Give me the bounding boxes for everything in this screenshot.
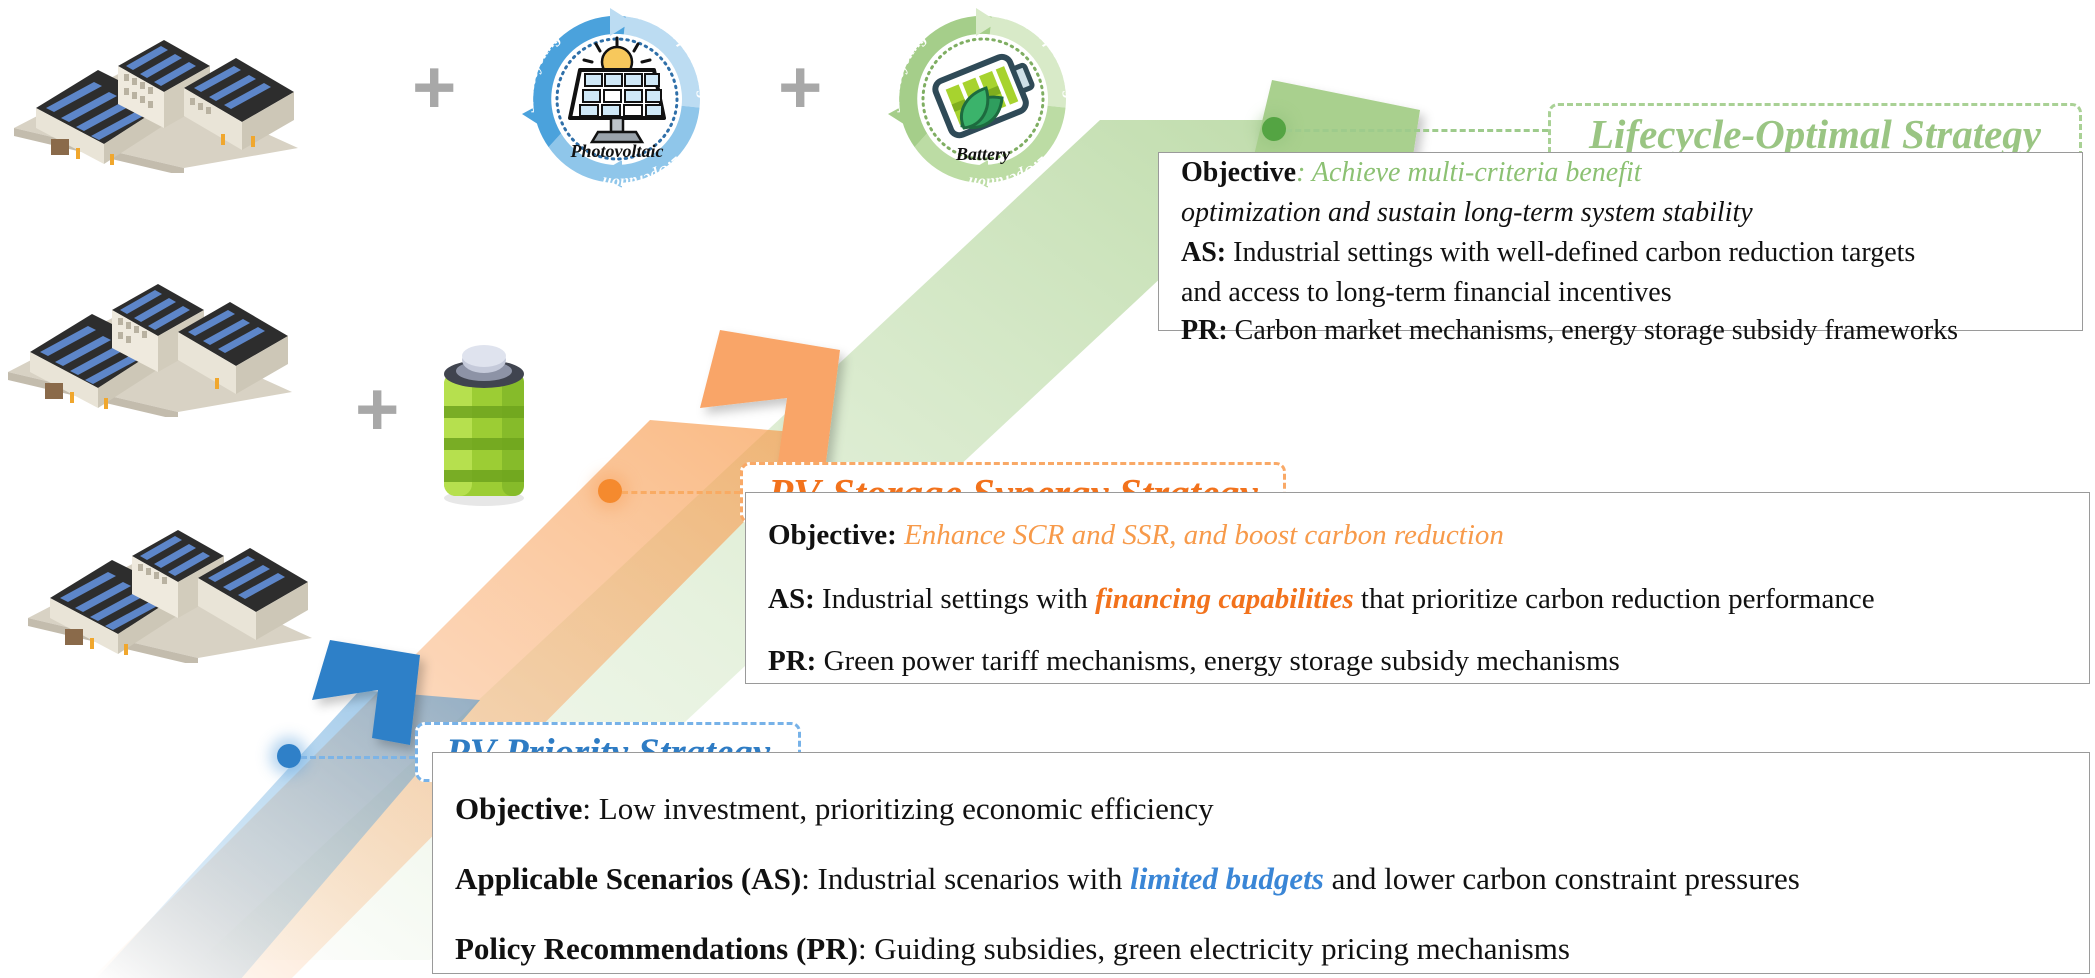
panel-line-applicable-scenarios: Applicable Scenarios (AS): Industrial sc… bbox=[455, 861, 1800, 897]
connector-line-pv-storage bbox=[622, 491, 740, 494]
panel-line-objective-label: Objective bbox=[455, 791, 582, 826]
connector-dot-pv-storage bbox=[598, 479, 622, 503]
connector-line-lifecycle bbox=[1286, 129, 1548, 132]
connector-dot-lifecycle bbox=[1262, 117, 1286, 141]
panel-line-objective: Objective: Enhance SCR and SSR, and boos… bbox=[768, 519, 1504, 552]
panel-line-as-emphasis: financing capabilities bbox=[1095, 583, 1354, 615]
panel-line-applicable-scenarios: AS: Industrial settings with well-define… bbox=[1181, 237, 1915, 269]
panel-line-pr-value: Carbon market mechanisms, energy storage… bbox=[1228, 315, 1958, 346]
panel-line-as-emphasis: limited budgets bbox=[1130, 861, 1324, 896]
panel-line-as-label: AS: bbox=[1181, 237, 1226, 268]
connector-line-pv-priority bbox=[301, 756, 415, 759]
green-battery-icon bbox=[424, 330, 544, 510]
factory-illustration-top bbox=[6, 8, 306, 173]
strategy-panel-lifecycle-optimal: Objective: Achieve multi-criteria benefi… bbox=[1158, 152, 2083, 331]
plus-icon-middle: + bbox=[355, 372, 399, 448]
panel-line-objective-label: Objective: bbox=[768, 519, 897, 551]
panel-line-pr-value: Green power tariff mechanisms, energy st… bbox=[816, 645, 1619, 677]
strategy-panel-pv-storage-synergy: Objective: Enhance SCR and SSR, and boos… bbox=[745, 492, 2090, 684]
panel-line-as-label: AS: bbox=[768, 583, 815, 615]
arrow-pv-priority bbox=[95, 640, 480, 978]
panel-line-applicable-scenarios-cont: and access to long-term financial incent… bbox=[1181, 277, 1672, 309]
panel-line-objective: Objective: Low investment, prioritizing … bbox=[455, 791, 1214, 827]
strategy-panel-pv-priority: Objective: Low investment, prioritizing … bbox=[432, 752, 2090, 974]
panel-line-policy-recommendations: Policy Recommendations (PR): Guiding sub… bbox=[455, 931, 1570, 967]
panel-line-objective-label: Objective bbox=[1181, 157, 1296, 188]
pv-cycle-center-label: Photovoltaic bbox=[570, 141, 664, 161]
panel-line-pr-label: PR: bbox=[768, 645, 816, 677]
factory-illustration-bottom bbox=[20, 498, 320, 663]
plus-icon-top-1: + bbox=[412, 50, 456, 126]
panel-line-objective-value: : Low investment, prioritizing economic … bbox=[582, 791, 1213, 826]
panel-line-as-value: Industrial settings with well-defined ca… bbox=[1226, 237, 1915, 268]
panel-line-policy-recommendations: PR: Green power tariff mechanisms, energ… bbox=[768, 645, 1620, 678]
panel-line-applicable-scenarios: AS: Industrial settings with financing c… bbox=[768, 583, 1875, 616]
panel-line-pr-label: Policy Recommendations (PR) bbox=[455, 931, 858, 966]
panel-line-as-label: Applicable Scenarios (AS) bbox=[455, 861, 801, 896]
panel-line-pr-value: : Guiding subsidies, green electricity p… bbox=[858, 931, 1570, 966]
photovoltaic-lifecycle-badge: Photovoltaic 1. Manufacturing 2.Operatio… bbox=[492, 2, 742, 196]
panel-line-as-text-2: that prioritize carbon reduction perform… bbox=[1354, 583, 1875, 615]
diagram-canvas: + + + bbox=[0, 0, 2095, 978]
panel-line-as-text-1: Industrial settings with bbox=[815, 583, 1095, 615]
panel-line-objective-cont: optimization and sustain long-term syste… bbox=[1181, 197, 1753, 229]
connector-dot-pv-priority bbox=[277, 744, 301, 768]
factory-illustration-middle bbox=[0, 252, 300, 417]
panel-line-objective: Objective: Achieve multi-criteria benefi… bbox=[1181, 157, 1642, 189]
panel-line-pr-label: PR: bbox=[1181, 315, 1228, 346]
battery-cycle-center-label: Battery bbox=[955, 144, 1011, 164]
panel-line-as-text-2: and lower carbon constraint pressures bbox=[1324, 861, 1800, 896]
plus-icon-top-2: + bbox=[778, 50, 822, 126]
panel-line-objective-value: : Achieve multi-criteria benefit bbox=[1296, 157, 1641, 188]
panel-line-as-text-1: : Industrial scenarios with bbox=[801, 861, 1130, 896]
battery-lifecycle-badge: Battery 1. Manufacturing 2.Operation 3. … bbox=[858, 2, 1108, 196]
panel-line-objective-value: Enhance SCR and SSR, and boost carbon re… bbox=[897, 519, 1504, 551]
panel-line-policy-recommendations: PR: Carbon market mechanisms, energy sto… bbox=[1181, 315, 1958, 347]
